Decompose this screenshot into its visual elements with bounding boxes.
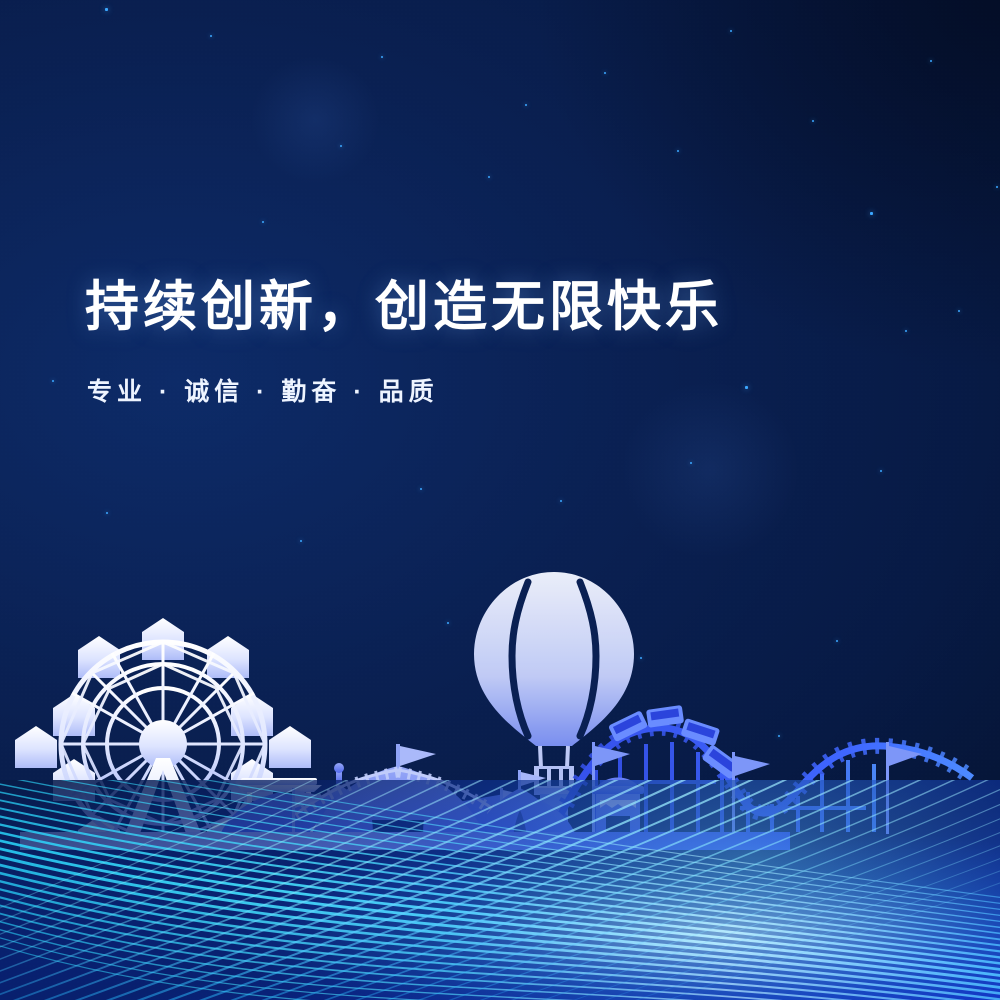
star-dot (996, 186, 998, 188)
star-dot (52, 380, 54, 382)
star-dot (745, 386, 748, 389)
star-dot (262, 221, 264, 223)
star-dot (604, 72, 606, 74)
star-dot (488, 176, 490, 178)
star-dot (106, 512, 108, 514)
star-dot (870, 212, 873, 215)
star-dot (340, 145, 342, 147)
star-dot (812, 120, 814, 122)
star-dot (880, 470, 882, 472)
promo-banner: 持续创新，创造无限快乐 专业 · 诚信 · 勤奋 · 品质 (0, 0, 1000, 1000)
star-dot (958, 310, 960, 312)
star-dot (105, 8, 108, 11)
glow-wave-mesh (0, 780, 1000, 1000)
star-dot (730, 30, 732, 32)
star-dot (420, 488, 422, 490)
star-dot (690, 462, 692, 464)
star-dot (677, 150, 679, 152)
star-dot (560, 500, 562, 502)
star-dot (381, 56, 383, 58)
page-subtitle: 专业 · 诚信 · 勤奋 · 品质 (87, 372, 439, 408)
page-title: 持续创新，创造无限快乐 (85, 262, 723, 341)
star-dot (525, 104, 527, 106)
star-dot (210, 35, 212, 37)
sky-haze (250, 55, 380, 185)
star-dot (930, 60, 932, 62)
star-dot (905, 330, 907, 332)
